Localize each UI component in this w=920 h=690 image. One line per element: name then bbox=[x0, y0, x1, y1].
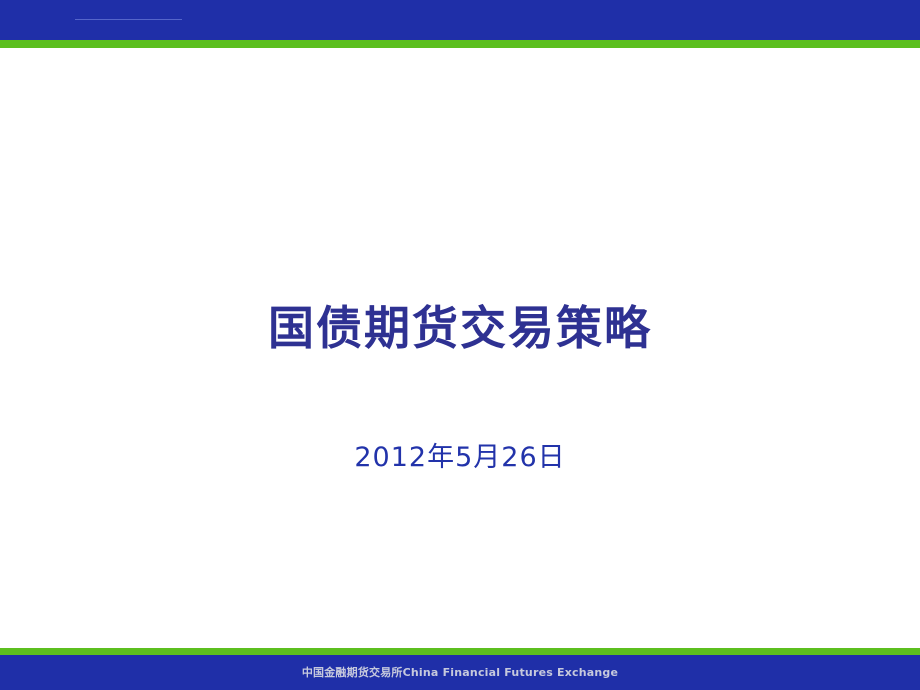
header-band bbox=[0, 0, 920, 40]
header-green-stripe bbox=[0, 40, 920, 48]
header-rule-line bbox=[75, 19, 182, 20]
footer-organization-label: 中国金融期货交易所China Financial Futures Exchang… bbox=[0, 666, 920, 680]
footer-green-stripe bbox=[0, 648, 920, 655]
slide-content-area: 国债期货交易策略 2012年5月26日 bbox=[0, 48, 920, 648]
presentation-slide: 国债期货交易策略 2012年5月26日 中国金融期货交易所China Finan… bbox=[0, 0, 920, 690]
page-title: 国债期货交易策略 bbox=[0, 298, 920, 358]
slide-date: 2012年5月26日 bbox=[0, 440, 920, 476]
